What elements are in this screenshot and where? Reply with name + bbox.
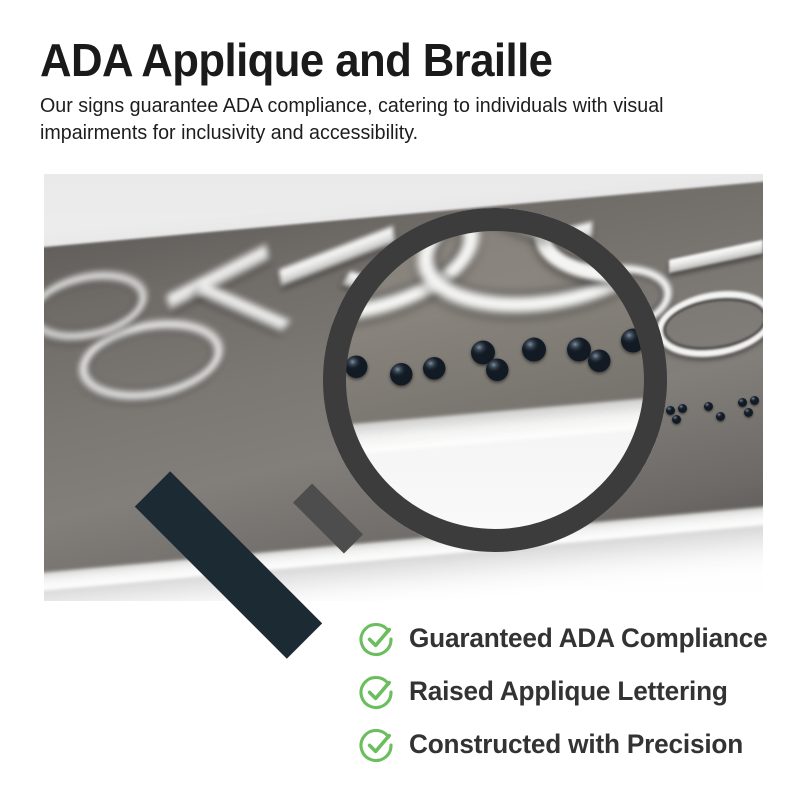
feature-label: Raised Applique Lettering bbox=[409, 676, 728, 707]
feature-item: Constructed with Precision bbox=[358, 718, 768, 771]
page-subtitle: Our signs guarantee ADA compliance, cate… bbox=[40, 92, 712, 146]
check-circle-icon bbox=[358, 726, 396, 764]
check-circle-icon bbox=[358, 620, 396, 658]
braille-dot bbox=[744, 408, 753, 417]
braille-dot bbox=[704, 402, 713, 411]
feature-label: Constructed with Precision bbox=[409, 729, 743, 760]
feature-item: Guaranteed ADA Compliance bbox=[358, 612, 768, 665]
braille-dot bbox=[750, 396, 759, 405]
promo-graphic-page: ADA Applique and Braille Our signs guara… bbox=[0, 0, 804, 804]
feature-list: Guaranteed ADA Compliance Raised Appliqu… bbox=[358, 612, 768, 771]
page-title: ADA Applique and Braille bbox=[40, 34, 728, 86]
braille-dot bbox=[716, 412, 725, 421]
braille-dot bbox=[678, 404, 687, 413]
braille-dot bbox=[738, 398, 747, 407]
braille-dot bbox=[666, 406, 675, 415]
check-circle-icon bbox=[358, 673, 396, 711]
feature-item: Raised Applique Lettering bbox=[358, 665, 768, 718]
header: ADA Applique and Braille Our signs guara… bbox=[40, 34, 764, 146]
braille-dot bbox=[672, 415, 681, 424]
feature-label: Guaranteed ADA Compliance bbox=[409, 623, 767, 654]
product-photo bbox=[44, 174, 763, 601]
